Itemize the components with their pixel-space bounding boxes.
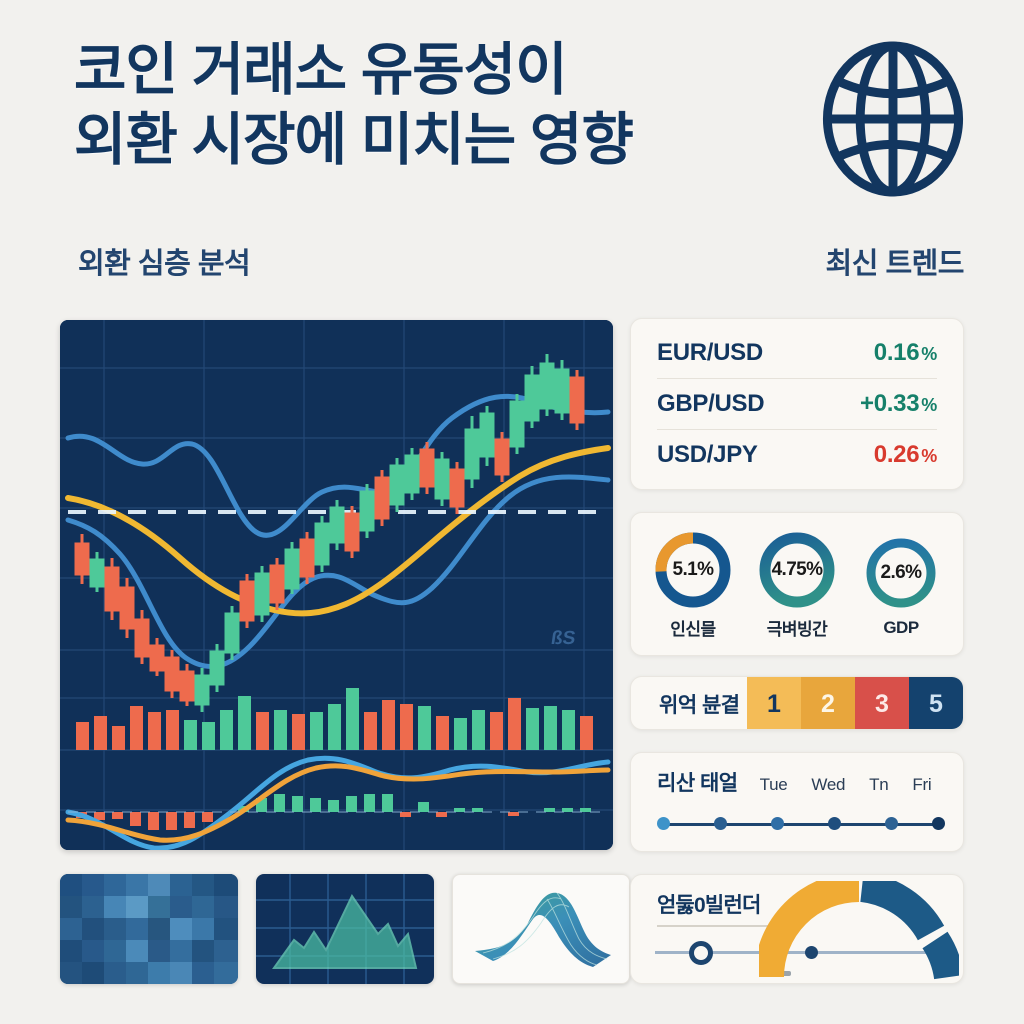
timeline-dot[interactable] bbox=[714, 817, 727, 830]
donut-caption: 극벼빙간 bbox=[767, 615, 828, 640]
area-chart-thumbnail[interactable] bbox=[256, 874, 434, 984]
fx-change-value: 0.26% bbox=[874, 441, 937, 469]
heatmap-thumbnail[interactable] bbox=[60, 874, 238, 984]
subtitle-right: 최신 트렌드 bbox=[826, 240, 964, 282]
donut-caption: 인신믈 bbox=[670, 615, 715, 640]
donut-caption: GDP bbox=[883, 618, 918, 638]
subtitle-row: 외환 심층 분석 최신 트렌드 bbox=[78, 240, 964, 282]
donut-value: 4.75% bbox=[755, 528, 839, 612]
day-label-thu: Tn bbox=[869, 775, 888, 795]
gauge-card: 얻둟0빌런더 bbox=[630, 874, 964, 984]
donut-metrics-card: 5.1% 인신믈 4.75% 극벼빙간 bbox=[630, 512, 964, 656]
gauge-slider-knob[interactable] bbox=[689, 941, 713, 965]
fx-row[interactable]: EUR/USD 0.16% bbox=[657, 327, 937, 378]
donut-metric[interactable]: 5.1% 인신믈 bbox=[651, 528, 735, 640]
weekday-timeline-card: 리산 태얼 Tue Wed Tn Fri bbox=[630, 752, 964, 852]
timeline-dot[interactable] bbox=[771, 817, 784, 830]
rating-chips-card: 위억 뷴곁 1 2 3 5 bbox=[630, 676, 964, 730]
page-title-line-1: 코인 거래소 유동성이 bbox=[74, 36, 774, 106]
poster-root: 코인 거래소 유동성이 외환 시장에 미치는 영향 외환 심층 분석 최신 트렌… bbox=[0, 0, 1024, 1024]
donut-metric[interactable]: 2.6% GDP bbox=[859, 531, 943, 638]
page-title-line-2: 외환 시장에 미치는 영향 bbox=[74, 106, 774, 176]
gauge-arc-icon bbox=[759, 881, 959, 981]
day-label-fri: Fri bbox=[912, 775, 931, 795]
fx-change-value: +0.33% bbox=[860, 390, 937, 418]
surface-plot-thumbnail[interactable] bbox=[452, 874, 630, 984]
timeline-track[interactable] bbox=[657, 817, 941, 831]
timeline-dot[interactable] bbox=[885, 817, 898, 830]
fx-rates-card: EUR/USD 0.16% GBP/USD +0.33% USD/JPY 0.2… bbox=[630, 318, 964, 490]
timeline-dot[interactable] bbox=[657, 817, 670, 830]
fx-row[interactable]: GBP/USD +0.33% bbox=[657, 378, 937, 429]
timeline-label: 리산 태얼 bbox=[657, 767, 738, 797]
donut-metric[interactable]: 4.75% 극벼빙간 bbox=[755, 528, 839, 640]
gauge-label: 얻둟0빌런더 bbox=[657, 889, 760, 919]
chart-watermark: ßS bbox=[549, 628, 576, 650]
donut-value: 2.6% bbox=[859, 531, 943, 615]
header: 코인 거래소 유동성이 외환 시장에 미치는 영향 bbox=[74, 36, 964, 175]
globe-icon bbox=[818, 40, 968, 198]
chip-1[interactable]: 1 bbox=[747, 677, 801, 730]
fx-change-value: 0.16% bbox=[874, 339, 937, 367]
fx-pair-label: EUR/USD bbox=[657, 339, 763, 367]
chip-2[interactable]: 2 bbox=[801, 677, 855, 730]
chips-label: 위억 뷴곁 bbox=[631, 677, 747, 730]
thumbnail-strip bbox=[60, 874, 630, 984]
fx-pair-label: GBP/USD bbox=[657, 390, 764, 418]
day-label-tue: Tue bbox=[760, 775, 788, 795]
chip-5[interactable]: 5 bbox=[909, 677, 963, 730]
page-title: 코인 거래소 유동성이 외환 시장에 미치는 영향 bbox=[74, 36, 774, 175]
subtitle-left: 외환 심층 분석 bbox=[78, 240, 250, 282]
fx-pair-label: USD/JPY bbox=[657, 441, 758, 469]
main-candlestick-chart[interactable]: ßS bbox=[60, 320, 613, 850]
day-label-wed: Wed bbox=[811, 775, 845, 795]
timeline-dot[interactable] bbox=[828, 817, 841, 830]
timeline-dot[interactable] bbox=[932, 817, 945, 830]
donut-value: 5.1% bbox=[651, 528, 735, 612]
chart-canvas bbox=[60, 320, 613, 850]
fx-row[interactable]: USD/JPY 0.26% bbox=[657, 429, 937, 480]
chip-3[interactable]: 3 bbox=[855, 677, 909, 730]
